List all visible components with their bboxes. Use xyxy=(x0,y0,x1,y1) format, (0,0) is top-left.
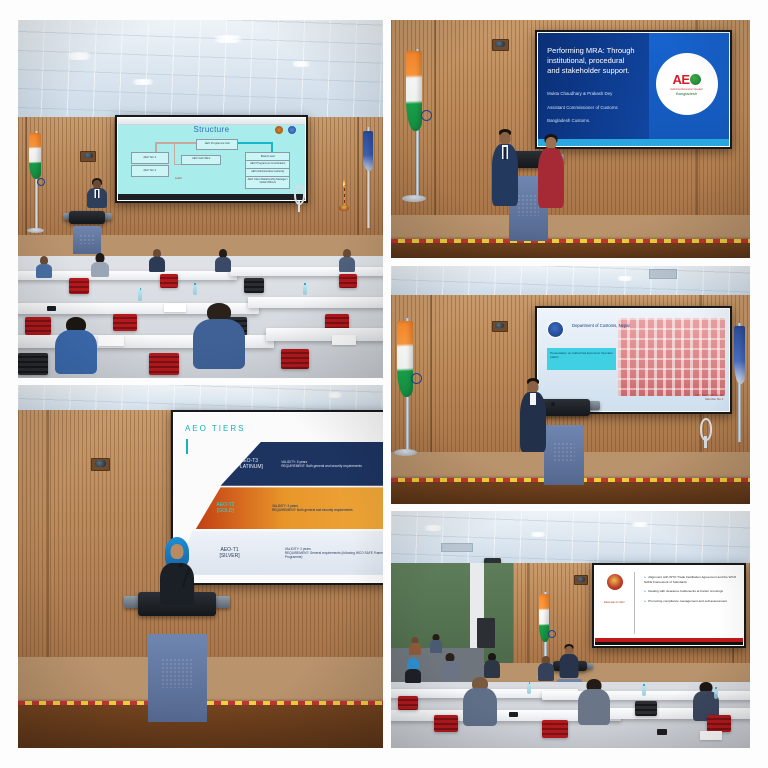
audience-person xyxy=(409,637,421,654)
audience-person-foreground xyxy=(463,677,497,723)
speaker-person-hijab xyxy=(160,537,194,603)
audience-desk xyxy=(266,328,383,341)
wall-camera-icon xyxy=(492,39,509,51)
collage-panel-top-right: Performing MRA: Through institutional, p… xyxy=(391,20,750,258)
tower-fan xyxy=(700,418,712,448)
audience-chair xyxy=(69,278,89,294)
presentation-screen-mra: Performing MRA: Through institutional, p… xyxy=(535,30,732,149)
audience-chair xyxy=(339,274,357,288)
speaker-person xyxy=(560,644,579,678)
audience-chair xyxy=(707,715,731,732)
av-cabinet xyxy=(477,618,495,648)
audience-chair xyxy=(160,274,178,288)
audience-person-foreground xyxy=(578,679,610,723)
audience-person-foreground xyxy=(193,303,245,365)
audience-person xyxy=(149,249,165,271)
smartphone xyxy=(47,306,56,311)
audience-person xyxy=(484,653,500,677)
collage-panel-bottom-right: Rationale for AEO Alignment with WTO Tra… xyxy=(391,511,750,748)
audience-chair xyxy=(113,314,137,331)
audience-person xyxy=(91,253,109,275)
podium xyxy=(69,206,105,254)
presenter-female xyxy=(538,134,564,210)
audience-chair xyxy=(25,317,51,335)
audience-person xyxy=(339,249,355,271)
collage-panel-bottom-left: AEO TIERS AEO-T3 [PLATINUM] VALIDITY: 5 … xyxy=(18,385,383,748)
presentation-screen-nepal: Department of Customs, Nepal Presentatio… xyxy=(535,306,732,413)
speaker-person xyxy=(520,378,546,454)
audience-chair xyxy=(542,720,568,738)
audience-chair xyxy=(18,353,48,375)
podium xyxy=(138,592,216,722)
ceremonial-lamp xyxy=(339,185,349,211)
audience-chair xyxy=(149,353,179,375)
audience-desk xyxy=(248,297,383,308)
notepad xyxy=(700,731,722,740)
audience-chair xyxy=(281,349,309,369)
water-bottle xyxy=(714,689,718,699)
smartphone xyxy=(657,729,667,735)
audience-chair xyxy=(244,278,264,293)
speaker-person xyxy=(86,178,108,212)
audience-chair xyxy=(398,696,418,710)
audience-person xyxy=(430,634,442,652)
presentation-screen-structure: Structure AEO Programme Cell AEO Tier 3 … xyxy=(115,115,308,203)
collage-panel-top-left: Structure AEO Programme Cell AEO Tier 3 … xyxy=(18,20,383,378)
wall-camera-icon xyxy=(91,458,110,471)
notepad xyxy=(98,335,124,346)
wall-camera-icon xyxy=(80,151,96,162)
audience-person-hijab xyxy=(405,658,421,680)
water-bottle xyxy=(303,285,307,295)
tower-fan xyxy=(294,185,305,212)
notepad xyxy=(332,335,356,345)
wall-camera-icon xyxy=(574,575,588,585)
smartphone xyxy=(509,712,518,717)
photo-collage: Structure AEO Programme Cell AEO Tier 3 … xyxy=(0,0,768,768)
presentation-screen-bullets: Rationale for AEO Alignment with WTO Tra… xyxy=(592,563,746,648)
presentation-screen-tiers: AEO TIERS AEO-T3 [PLATINUM] VALIDITY: 5 … xyxy=(171,410,383,584)
wall-camera-icon xyxy=(492,321,508,332)
audience-person xyxy=(538,656,554,680)
water-bottle xyxy=(138,290,142,301)
audience-desk xyxy=(230,267,383,276)
water-bottle xyxy=(642,686,646,696)
audience-chair xyxy=(635,701,657,716)
collage-panel-middle-right: Department of Customs, Nepal Presentatio… xyxy=(391,266,750,504)
water-bottle xyxy=(193,285,197,295)
audience-person xyxy=(441,653,459,679)
water-bottle xyxy=(527,684,531,694)
audience-chair xyxy=(434,715,458,732)
notepad xyxy=(164,303,186,312)
audience-person xyxy=(36,256,52,276)
audience-person xyxy=(215,249,231,271)
presenter-male xyxy=(492,129,518,207)
audience-person-foreground xyxy=(55,317,97,371)
